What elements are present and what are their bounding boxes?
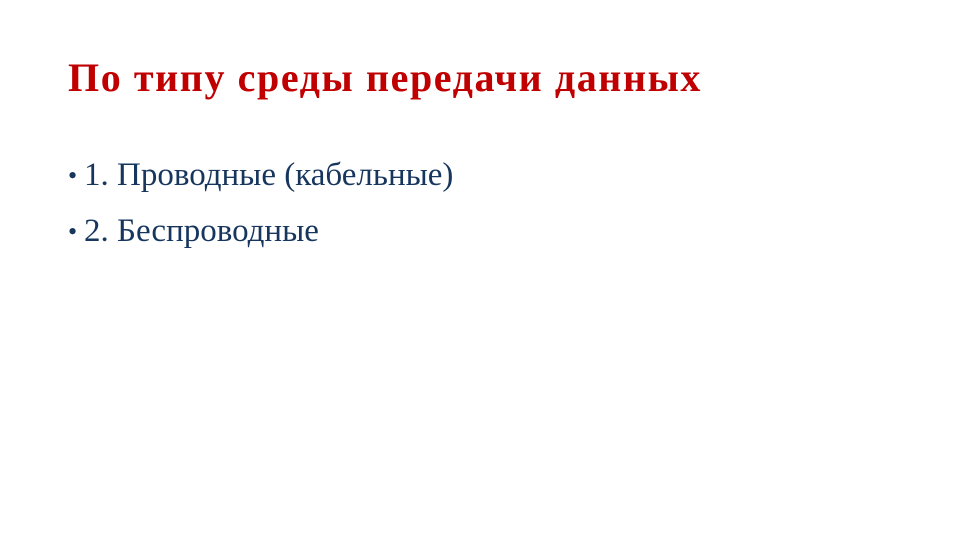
list-item-label: 1. Проводные (кабельные) xyxy=(84,148,453,203)
list-item: • 2. Беспроводные xyxy=(68,204,908,260)
list-item-label: 2. Беспроводные xyxy=(84,204,319,259)
bullet-dot-icon: • xyxy=(68,148,84,203)
bullet-list: • 1. Проводные (кабельные) • 2. Беспрово… xyxy=(68,148,908,260)
bullet-dot-icon: • xyxy=(68,204,84,259)
list-item: • 1. Проводные (кабельные) xyxy=(68,148,908,204)
slide-canvas: По типу среды передачи данных • 1. Прово… xyxy=(0,0,960,540)
page-title: По типу среды передачи данных xyxy=(68,53,892,103)
